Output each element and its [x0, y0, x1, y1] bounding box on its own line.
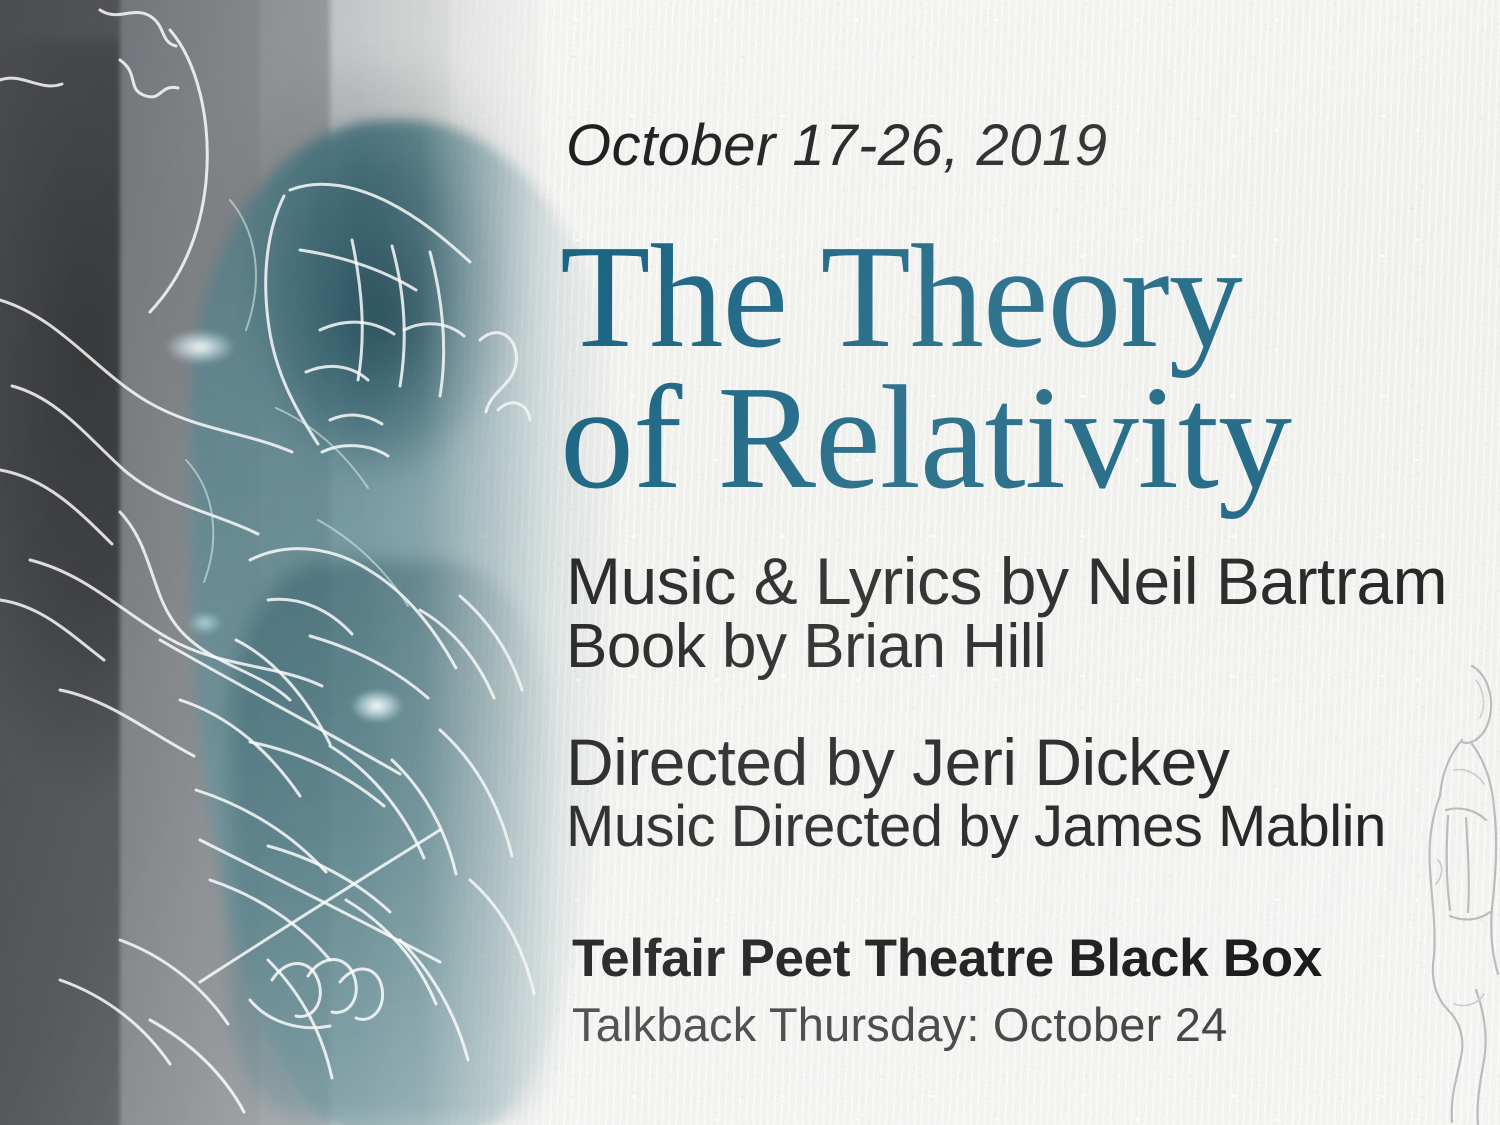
writing-credits: Music & Lyrics by Neil Bartram Book by B… [566, 548, 1447, 679]
music-lyrics-credit: Music & Lyrics by Neil Bartram [566, 548, 1447, 615]
production-poster: October 17-26, 2019 The Theory of Relati… [0, 0, 1500, 1125]
title-line-2: of Relativity [560, 369, 1291, 508]
book-credit: Book by Brian Hill [566, 615, 1447, 678]
show-title: The Theory of Relativity [560, 228, 1291, 508]
poster-text-content: October 17-26, 2019 The Theory of Relati… [0, 0, 1500, 1125]
director-credit: Directed by Jeri Dickey [566, 728, 1386, 797]
direction-credits: Directed by Jeri Dickey Music Directed b… [566, 728, 1386, 857]
title-line-1: The Theory [560, 228, 1291, 367]
music-director-credit: Music Directed by James Mablin [566, 797, 1386, 857]
venue-info: Telfair Peet Theatre Black Box Talkback … [572, 928, 1322, 1052]
venue-name: Telfair Peet Theatre Black Box [572, 928, 1322, 989]
talkback-note: Talkback Thursday: October 24 [572, 997, 1322, 1052]
performance-dates: October 17-26, 2019 [566, 112, 1108, 179]
